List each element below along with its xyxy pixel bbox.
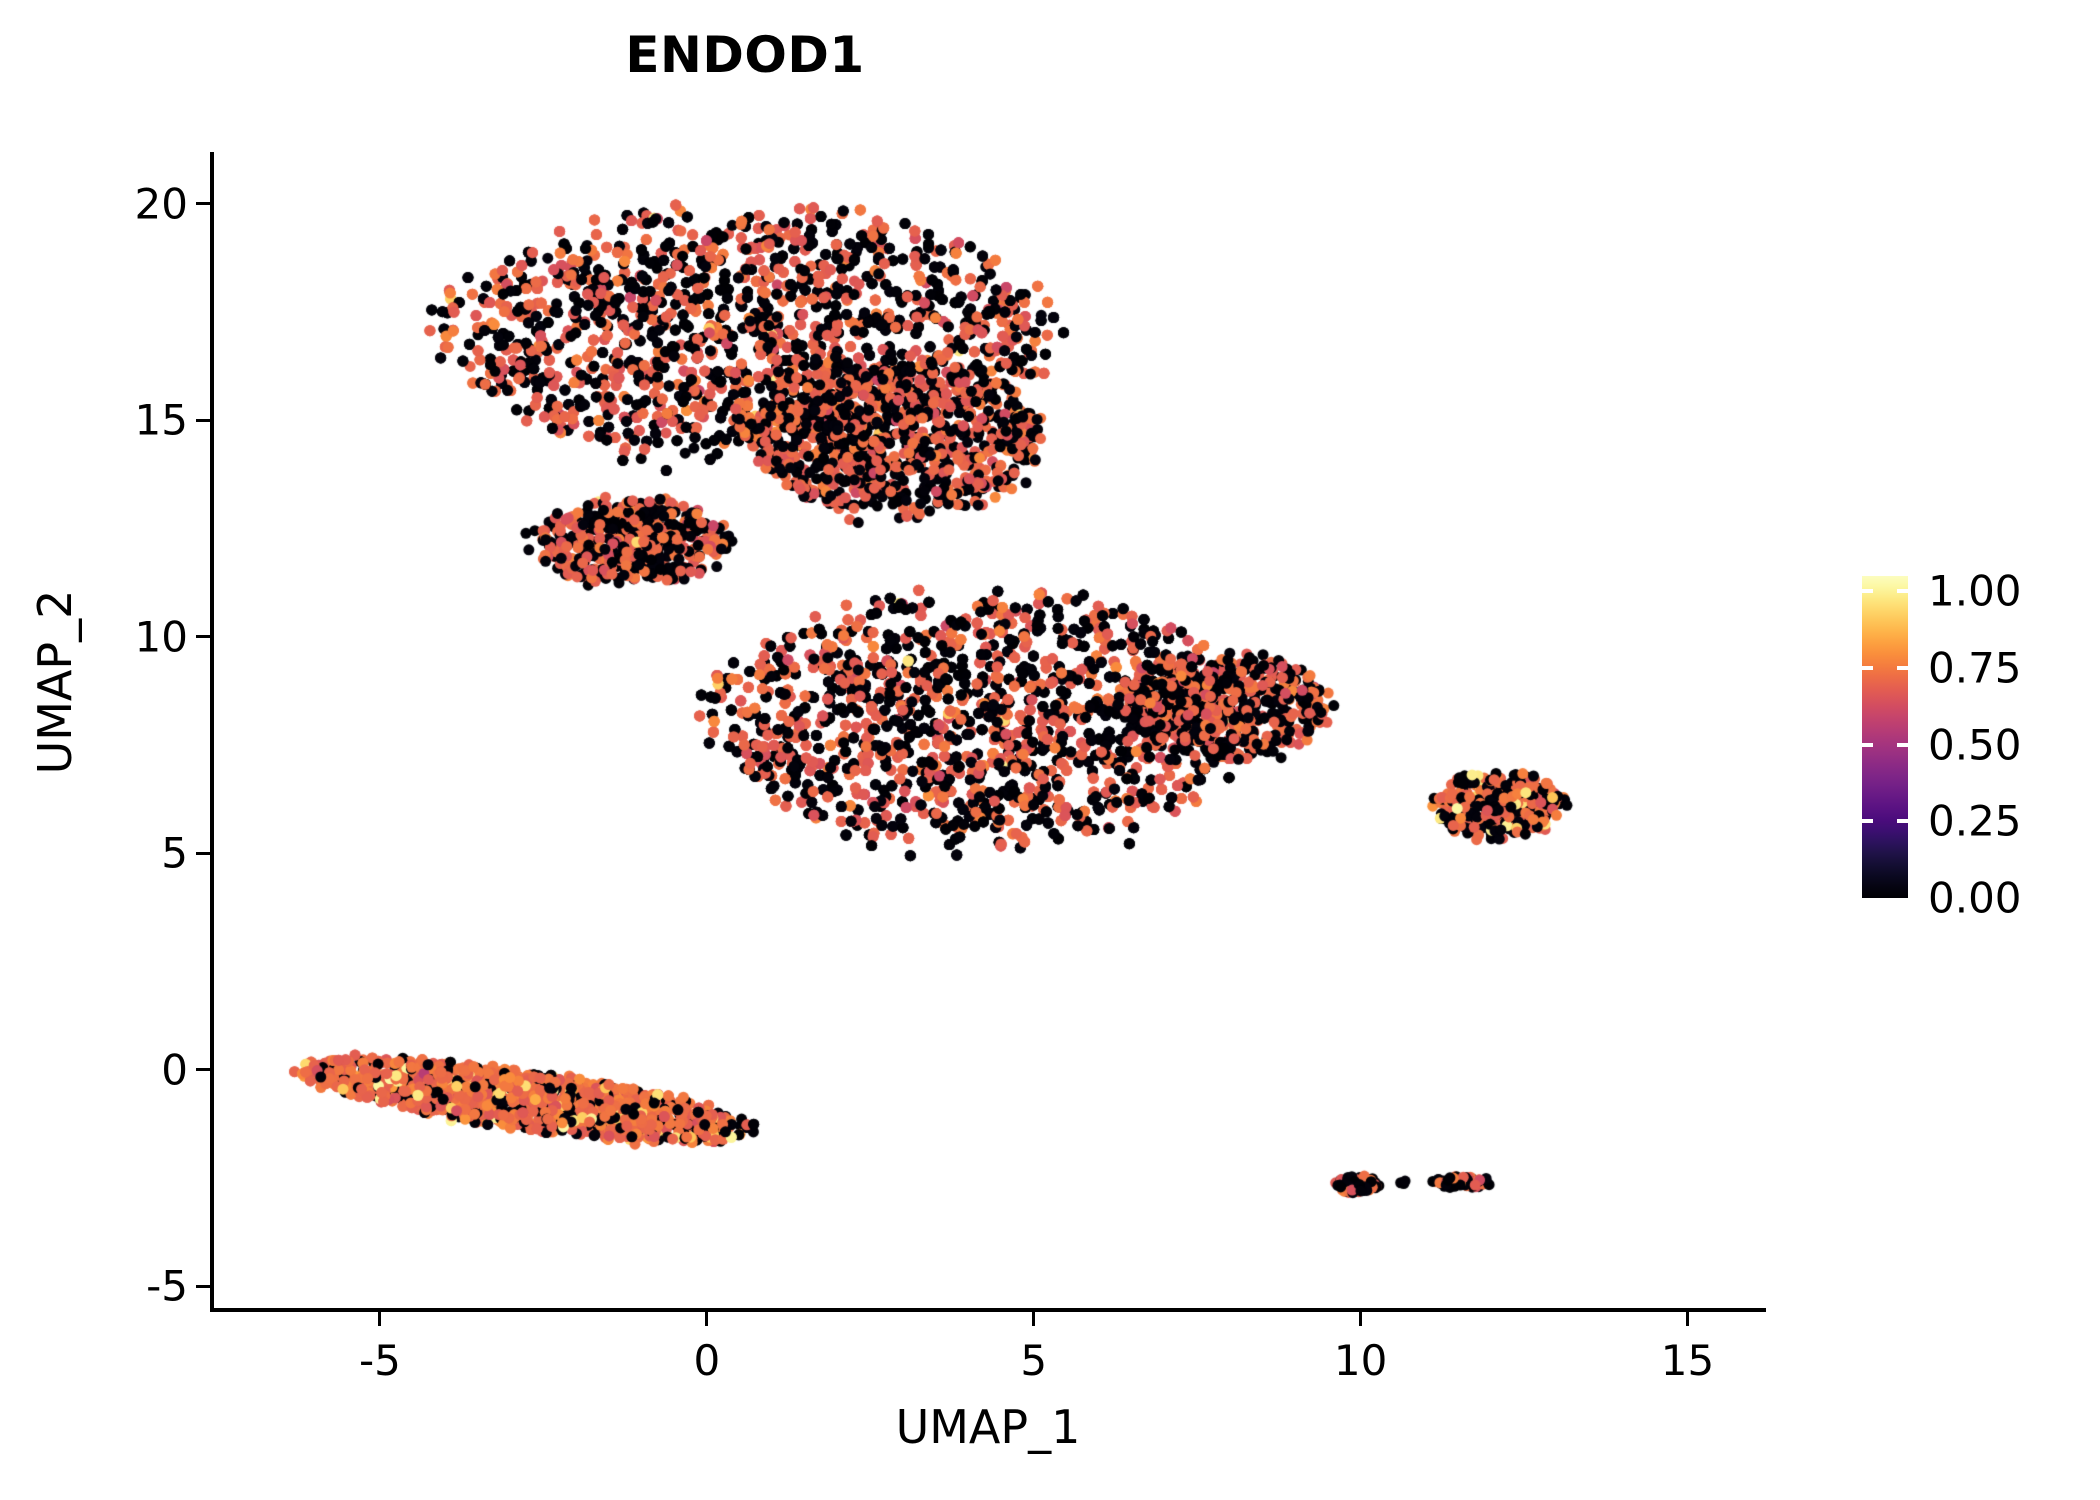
x-tick-mark — [1686, 1312, 1689, 1326]
x-axis-label: UMAP_1 — [210, 1400, 1766, 1454]
y-tick-mark — [196, 419, 210, 422]
colorbar-gradient — [1862, 576, 1908, 898]
colorbar-tick-mark — [1897, 819, 1908, 823]
plot-axes: 20151050-5 -5051015 — [210, 152, 1766, 1312]
colorbar-tick-label: 0.25 — [1928, 797, 2022, 846]
x-tick-mark — [705, 1312, 708, 1326]
colorbar: 1.000.750.500.250.00 — [1862, 576, 2092, 906]
page-title: ENDOD1 — [0, 26, 1490, 84]
colorbar-tick-label: 0.00 — [1928, 874, 2022, 923]
colorbar-tick-mark — [1862, 589, 1873, 593]
x-tick-mark — [378, 1312, 381, 1326]
umap-figure: ENDOD1 20151050-5 -5051015 UMAP_1 UMAP_2… — [0, 0, 2100, 1500]
colorbar-tick-mark — [1862, 819, 1873, 823]
x-tick-label: 15 — [1661, 1336, 1714, 1385]
y-tick-mark — [196, 202, 210, 205]
y-tick-mark — [196, 1285, 210, 1288]
x-tick-label: 5 — [1020, 1336, 1047, 1385]
y-tick-label: 0 — [161, 1045, 188, 1094]
y-tick-mark — [196, 852, 210, 855]
x-tick-label: 10 — [1334, 1336, 1387, 1385]
y-axis-label: UMAP_2 — [28, 332, 82, 1032]
y-axis-spine — [210, 152, 214, 1312]
colorbar-tick-mark — [1862, 743, 1873, 747]
x-tick-mark — [1032, 1312, 1035, 1326]
x-tick-label: -5 — [359, 1336, 401, 1385]
colorbar-tick-mark — [1862, 666, 1873, 670]
y-tick-label: 10 — [135, 612, 188, 661]
y-tick-label: 15 — [135, 396, 188, 445]
colorbar-tick-label: 0.50 — [1928, 720, 2022, 769]
y-tick-mark — [196, 1068, 210, 1071]
colorbar-tick-mark — [1897, 666, 1908, 670]
colorbar-tick-mark — [1897, 743, 1908, 747]
x-axis-spine — [210, 1308, 1766, 1312]
colorbar-tick-mark — [1897, 589, 1908, 593]
x-tick-label: 0 — [693, 1336, 720, 1385]
x-tick-mark — [1359, 1312, 1362, 1326]
y-tick-label: 20 — [135, 179, 188, 228]
y-tick-mark — [196, 635, 210, 638]
y-tick-label: -5 — [146, 1262, 188, 1311]
scatter-plot-canvas — [210, 152, 1766, 1312]
colorbar-tick-label: 0.75 — [1928, 644, 2022, 693]
colorbar-tick-label: 1.00 — [1928, 567, 2022, 616]
y-tick-label: 5 — [161, 829, 188, 878]
